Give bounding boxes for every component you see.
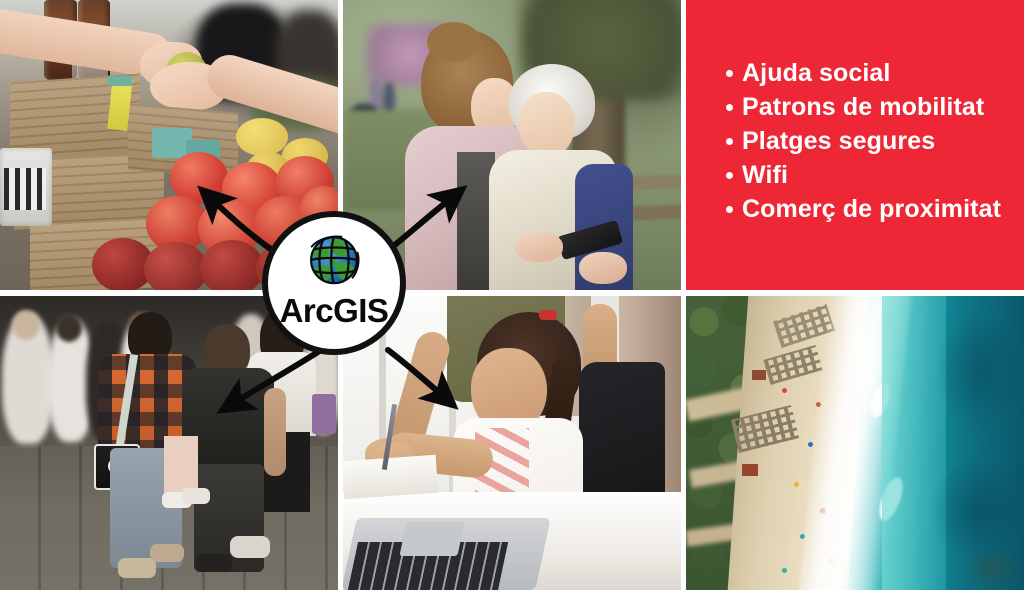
beach-hut: [752, 370, 766, 380]
infographic-canvas: Ajuda social Patrons de mobilitat Platge…: [0, 0, 1024, 590]
arcgis-wordmark: ArcGIS: [280, 294, 389, 327]
nectarine: [200, 240, 264, 290]
bullet-icon: [726, 206, 733, 213]
photo-cell-study: [343, 296, 681, 590]
feature-item: Comerç de proximitat: [726, 192, 1014, 226]
beachgoer: [794, 482, 799, 487]
price-tag-top: [108, 76, 132, 86]
scale-display: [4, 168, 46, 210]
hand: [579, 252, 627, 284]
photo-cell-street: [0, 296, 338, 590]
crowd-head: [56, 314, 82, 342]
hair-tie: [539, 310, 557, 320]
nectarine: [144, 242, 208, 290]
feature-list: Ajuda social Patrons de mobilitat Platge…: [726, 56, 1014, 226]
beachgoer: [808, 442, 813, 447]
study-scene: [343, 296, 681, 590]
shoe: [196, 554, 232, 572]
street-scene: [0, 296, 338, 590]
bullet-icon: [726, 70, 733, 77]
feature-item: Ajuda social: [726, 56, 1014, 90]
young-woman-bun: [427, 22, 481, 62]
polo-man-arm: [264, 388, 286, 476]
yellow-produce: [236, 118, 288, 156]
crowd-head: [12, 310, 40, 340]
shopping-bag: [312, 394, 336, 434]
shoe: [230, 536, 270, 558]
bullet-icon: [726, 172, 733, 179]
beachgoer: [782, 388, 787, 393]
rocky-outcrop: [962, 548, 1024, 590]
shoe: [150, 544, 184, 562]
feature-item: Patrons de mobilitat: [726, 90, 1014, 124]
notebook: [343, 455, 438, 499]
shoe: [118, 558, 156, 578]
feature-label: Patrons de mobilitat: [742, 90, 984, 124]
feature-label: Platges segures: [742, 124, 935, 158]
feature-item: Wifi: [726, 158, 1014, 192]
seagrass-patch: [936, 312, 1024, 432]
bullet-icon: [726, 138, 733, 145]
feature-item: Platges segures: [726, 124, 1014, 158]
beach-scene: [686, 296, 1024, 590]
bullet-icon: [726, 104, 733, 111]
beachgoer: [782, 568, 787, 573]
photo-cell-beach: [686, 296, 1024, 590]
beach-hut: [742, 464, 758, 476]
shoe: [182, 488, 210, 504]
feature-label: Ajuda social: [742, 56, 890, 90]
feature-label: Wifi: [742, 158, 788, 192]
elderly-woman-face: [519, 92, 575, 158]
features-panel: Ajuda social Patrons de mobilitat Platge…: [686, 0, 1024, 290]
globe-icon: [303, 228, 365, 290]
arcgis-logo[interactable]: ArcGIS: [262, 211, 406, 355]
laptop-trackpad: [399, 522, 464, 556]
hand: [515, 232, 563, 262]
feature-label: Comerç de proximitat: [742, 192, 1001, 226]
